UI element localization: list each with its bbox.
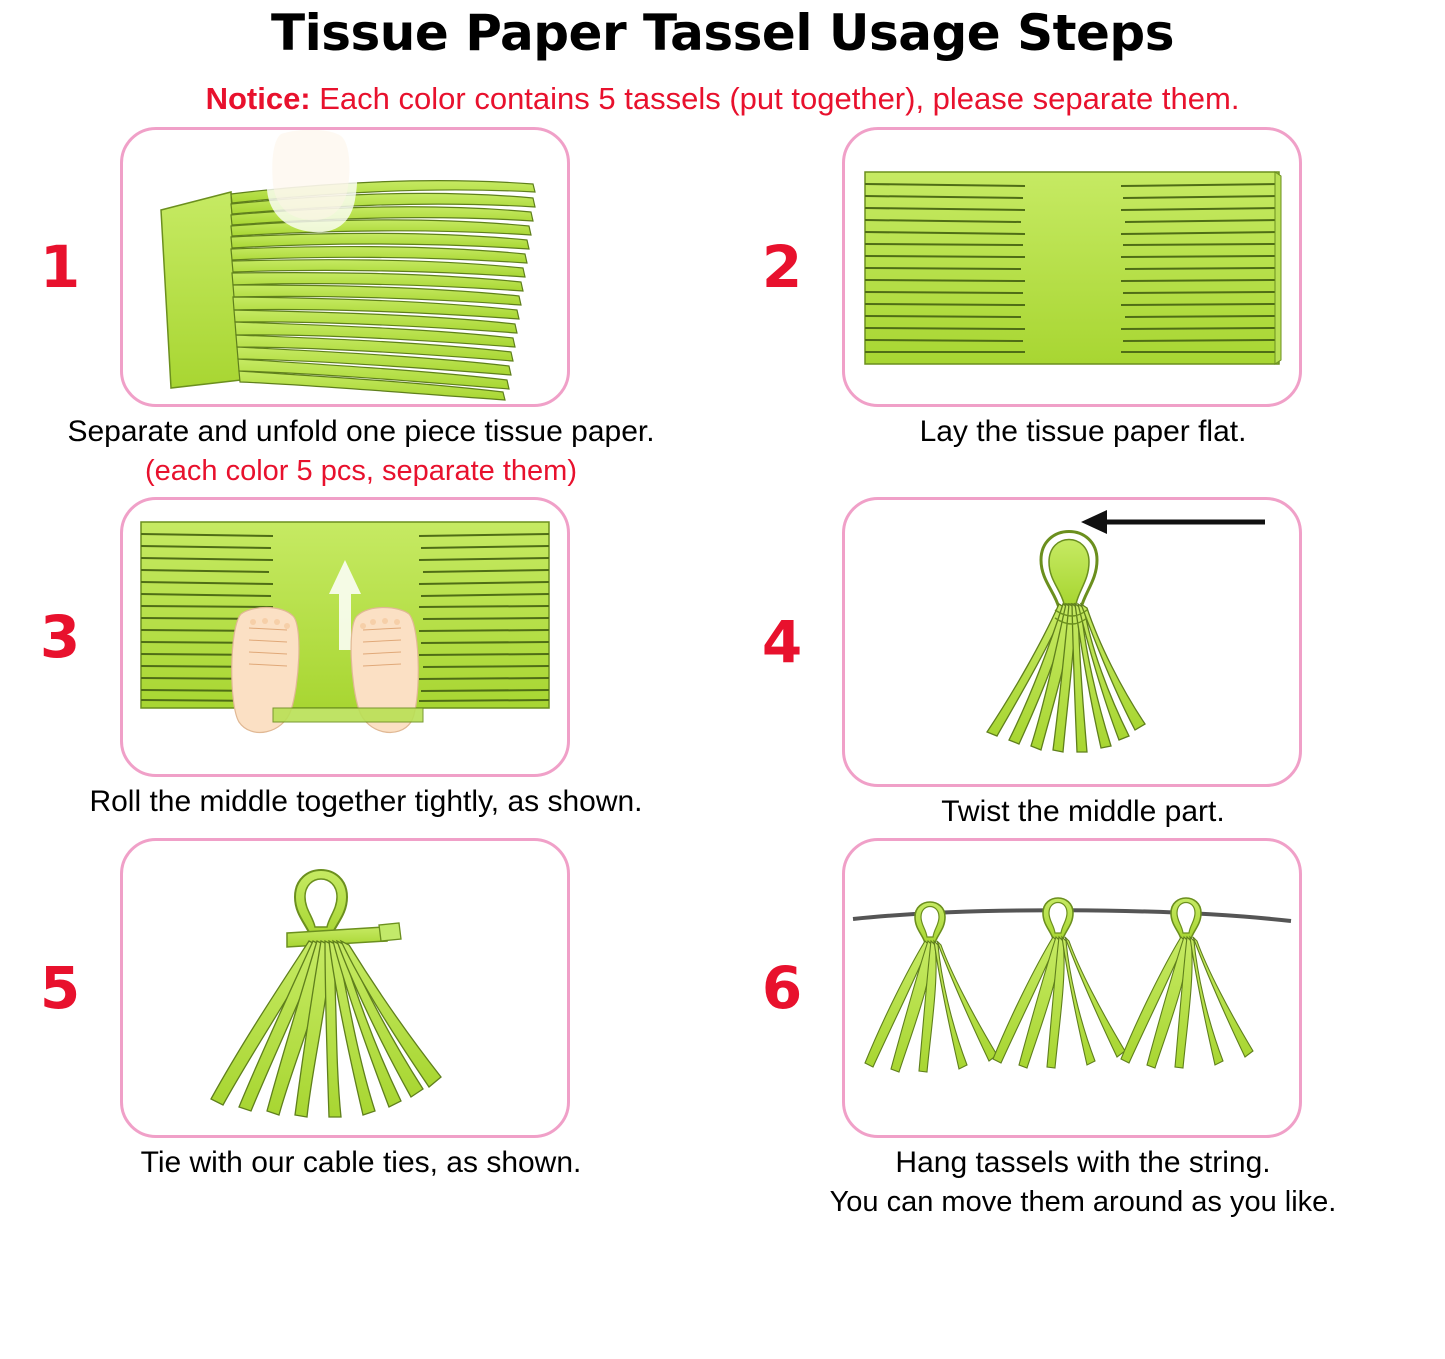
- arrow-icon: [1081, 510, 1265, 534]
- step-1-caption: Separate and unfold one piece tissue pap…: [0, 413, 722, 489]
- step-1-illustration-frame: [120, 127, 570, 407]
- step-3-caption-text: Roll the middle together tightly, as sho…: [89, 785, 642, 818]
- step-6-caption-text: Hang tassels with the string.: [895, 1146, 1270, 1179]
- step-2: 2: [722, 127, 1444, 489]
- flat-fringed-tissue-sheet-icon: [845, 130, 1299, 404]
- step-3-number: 3: [0, 603, 120, 671]
- step-4-caption: Twist the middle part.: [722, 793, 1444, 831]
- twisted-tassel-loop-with-arrow-icon: [845, 500, 1299, 784]
- step-4-number: 4: [722, 608, 842, 676]
- folded-tissue-paper-bundle-with-hand-icon: [123, 130, 567, 404]
- step-1-panel: 1: [0, 127, 722, 407]
- step-3: 3: [0, 497, 722, 831]
- step-6-subcaption: You can move them around as you like.: [722, 1184, 1444, 1220]
- step-5-illustration-frame: [120, 838, 570, 1138]
- step-4: 4: [722, 497, 1444, 831]
- step-1: 1: [0, 127, 722, 489]
- step-1-number: 1: [0, 233, 120, 301]
- step-2-caption: Lay the tissue paper flat.: [722, 413, 1444, 451]
- step-2-panel: 2: [722, 127, 1444, 407]
- step-2-number: 2: [722, 233, 842, 301]
- step-5-caption: Tie with our cable ties, as shown.: [0, 1144, 722, 1182]
- step-1-caption-text: Separate and unfold one piece tissue pap…: [67, 415, 654, 448]
- step-5-caption-text: Tie with our cable ties, as shown.: [141, 1146, 582, 1179]
- step-6: 6: [722, 838, 1444, 1220]
- step-3-illustration-frame: [120, 497, 570, 777]
- step-4-caption-text: Twist the middle part.: [941, 795, 1224, 828]
- steps-row-2: 3: [0, 497, 1445, 831]
- step-4-panel: 4: [722, 497, 1444, 787]
- page-title: Tissue Paper Tassel Usage Steps: [0, 6, 1445, 61]
- step-3-panel: 3: [0, 497, 722, 777]
- step-4-illustration-frame: [842, 497, 1302, 787]
- step-2-caption-text: Lay the tissue paper flat.: [920, 415, 1247, 448]
- step-6-caption: Hang tassels with the string. You can mo…: [722, 1144, 1444, 1220]
- step-2-illustration-frame: [842, 127, 1302, 407]
- tassel-tied-with-cable-tie-icon: [123, 841, 567, 1135]
- notice-label: Notice:: [206, 81, 311, 116]
- step-5: 5: [0, 838, 722, 1220]
- notice-line: Notice: Each color contains 5 tassels (p…: [0, 81, 1445, 117]
- step-3-caption: Roll the middle together tightly, as sho…: [0, 783, 722, 821]
- steps-grid: 1: [0, 127, 1445, 1220]
- step-6-panel: 6: [722, 838, 1444, 1138]
- step-6-illustration-frame: [842, 838, 1302, 1138]
- notice-text: Each color contains 5 tassels (put toget…: [311, 81, 1240, 116]
- steps-row-3: 5: [0, 838, 1445, 1220]
- three-tassels-hanging-on-string-icon: [845, 841, 1299, 1135]
- two-hands-rolling-middle-of-sheet-icon: [123, 500, 567, 774]
- instruction-sheet: Tissue Paper Tassel Usage Steps Notice: …: [0, 6, 1445, 1359]
- step-5-panel: 5: [0, 838, 722, 1138]
- step-5-number: 5: [0, 954, 120, 1022]
- steps-row-1: 1: [0, 127, 1445, 489]
- step-6-number: 6: [722, 954, 842, 1022]
- step-1-subcaption: (each color 5 pcs, separate them): [0, 453, 722, 489]
